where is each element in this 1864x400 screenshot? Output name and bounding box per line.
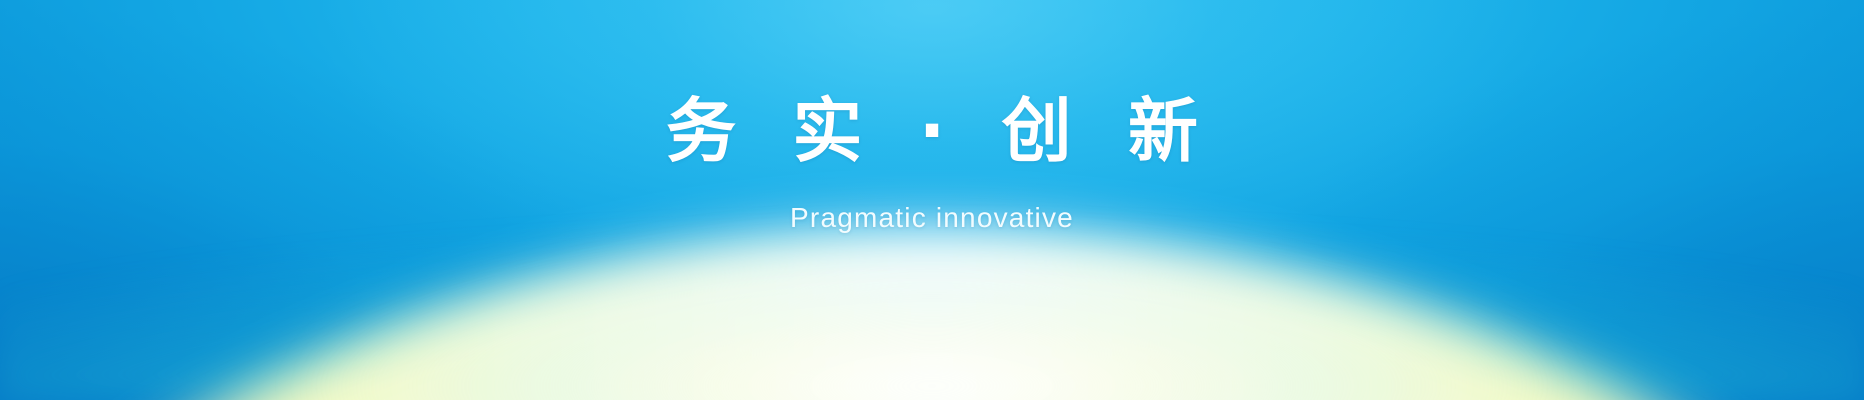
hero-banner: 务 实 · 创 新 Pragmatic innovative [0,0,1864,400]
banner-content: 务 实 · 创 新 Pragmatic innovative [0,0,1864,400]
banner-subtitle-english: Pragmatic innovative [790,166,1074,232]
banner-title-chinese: 务 实 · 创 新 [650,96,1214,166]
